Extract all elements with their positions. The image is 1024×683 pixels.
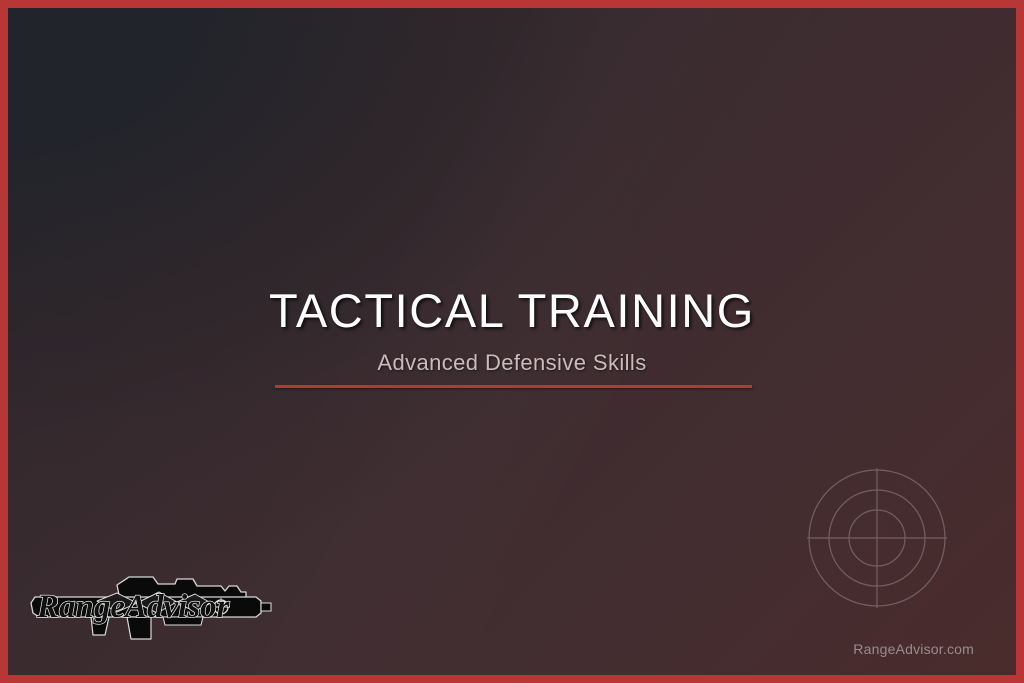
slide-canvas: TACTICAL TRAINING Advanced Defensive Ski…: [8, 8, 1016, 675]
page-title: TACTICAL TRAINING: [8, 286, 1016, 336]
brand-logo-wordmark: RangeAdvisor: [36, 589, 231, 625]
brand-logo: RangeAdvisor: [25, 567, 273, 645]
crosshair-target-icon: [799, 460, 955, 616]
title-divider: [275, 385, 752, 388]
footer-url: RangeAdvisor.com: [853, 641, 974, 657]
title-block: TACTICAL TRAINING Advanced Defensive Ski…: [8, 286, 1016, 376]
page-subtitle: Advanced Defensive Skills: [8, 350, 1016, 376]
presentation-slide: TACTICAL TRAINING Advanced Defensive Ski…: [0, 0, 1024, 683]
